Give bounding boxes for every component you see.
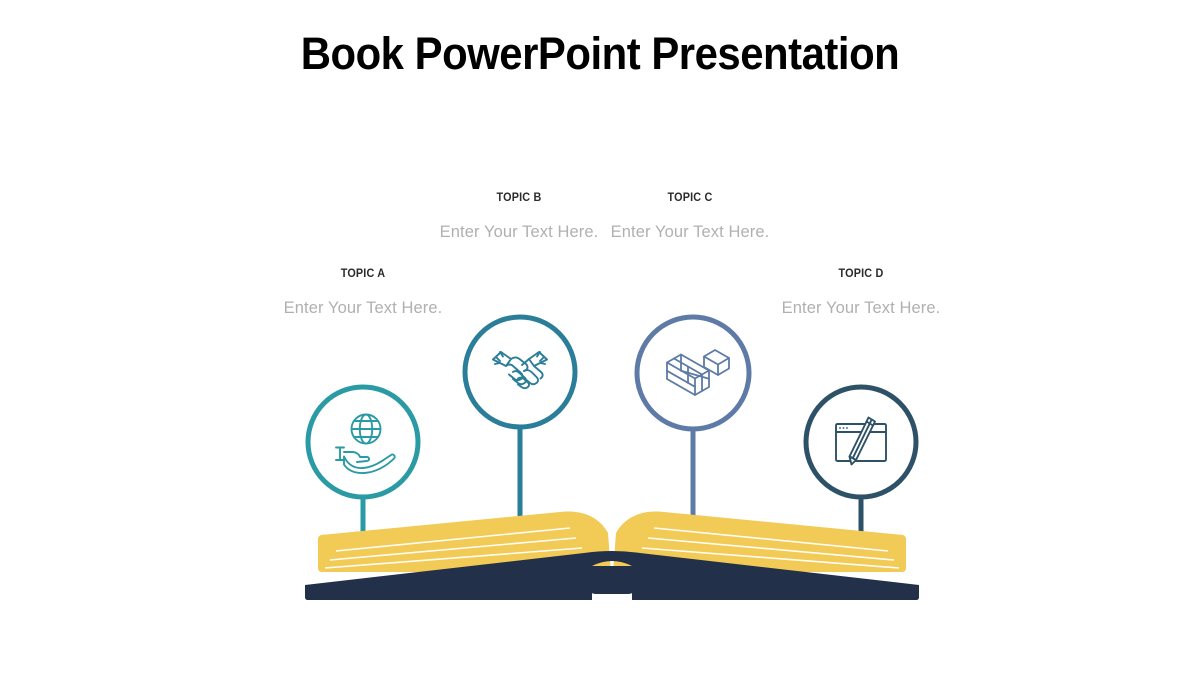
node-topic-b[interactable]	[465, 317, 575, 427]
topic-d-body[interactable]: Enter Your Text Here.	[751, 297, 971, 320]
topic-block-a: TOPIC A Enter Your Text Here.	[253, 268, 473, 320]
open-book-illustration	[305, 512, 919, 600]
book-spine-tab	[589, 566, 635, 594]
topic-a-label: TOPIC A	[260, 268, 467, 281]
node-topic-d[interactable]	[806, 387, 916, 497]
node-topic-c[interactable]	[637, 317, 749, 429]
topic-c-body[interactable]: Enter Your Text Here.	[580, 221, 800, 244]
topic-block-c: TOPIC C Enter Your Text Here.	[580, 192, 800, 244]
book-infographic-graphic	[0, 0, 1200, 675]
node-topic-a[interactable]	[308, 387, 418, 497]
topic-block-d: TOPIC D Enter Your Text Here.	[751, 268, 971, 320]
topic-a-body[interactable]: Enter Your Text Here.	[253, 297, 473, 320]
topic-c-label: TOPIC C	[587, 192, 794, 205]
node-circle-topic-c[interactable]	[637, 317, 749, 429]
slide-canvas: Book PowerPoint Presentation	[0, 0, 1200, 675]
topic-d-label: TOPIC D	[758, 268, 965, 281]
